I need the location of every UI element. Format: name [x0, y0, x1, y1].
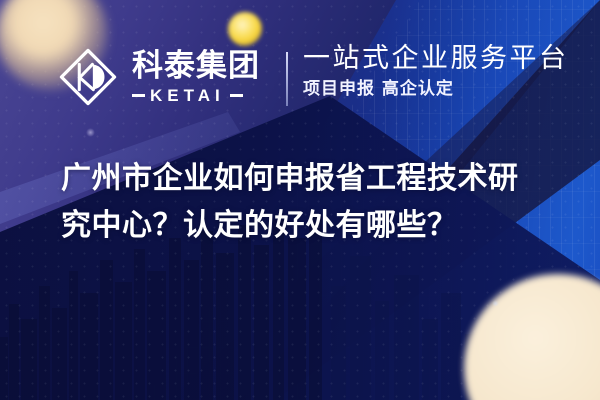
page-title-line-1: 广州市企业如何申报省工程技术研	[61, 155, 561, 202]
ketai-diamond-kt-logo-icon	[57, 46, 119, 108]
page-title: 广州市企业如何申报省工程技术研 究中心？认定的好处有哪些？	[61, 155, 561, 249]
promo-banner: 科泰集团 KETAI 一站式企业服务平台 项目申报 高企认定 广州市企业如何申报…	[0, 0, 600, 400]
page-title-line-2: 究中心？认定的好处有哪些？	[61, 202, 561, 249]
brand-name-en: KETAI	[150, 87, 225, 104]
banner-content: 科泰集团 KETAI 一站式企业服务平台 项目申报 高企认定 广州市企业如何申报…	[0, 0, 600, 400]
brand-name-en-row: KETAI	[132, 87, 260, 104]
dash-left-icon	[132, 94, 145, 97]
vertical-divider	[286, 52, 288, 106]
dash-right-icon	[230, 94, 243, 97]
tagline-main: 一站式企业服务平台	[303, 44, 569, 74]
tagline-block: 一站式企业服务平台 项目申报 高企认定	[303, 44, 569, 98]
brand-wordmark: 科泰集团 KETAI	[132, 51, 260, 104]
brand-logo[interactable]: 科泰集团 KETAI	[57, 42, 260, 112]
tagline-sub: 项目申报 高企认定	[303, 81, 569, 98]
brand-name-cn: 科泰集团	[132, 51, 260, 82]
